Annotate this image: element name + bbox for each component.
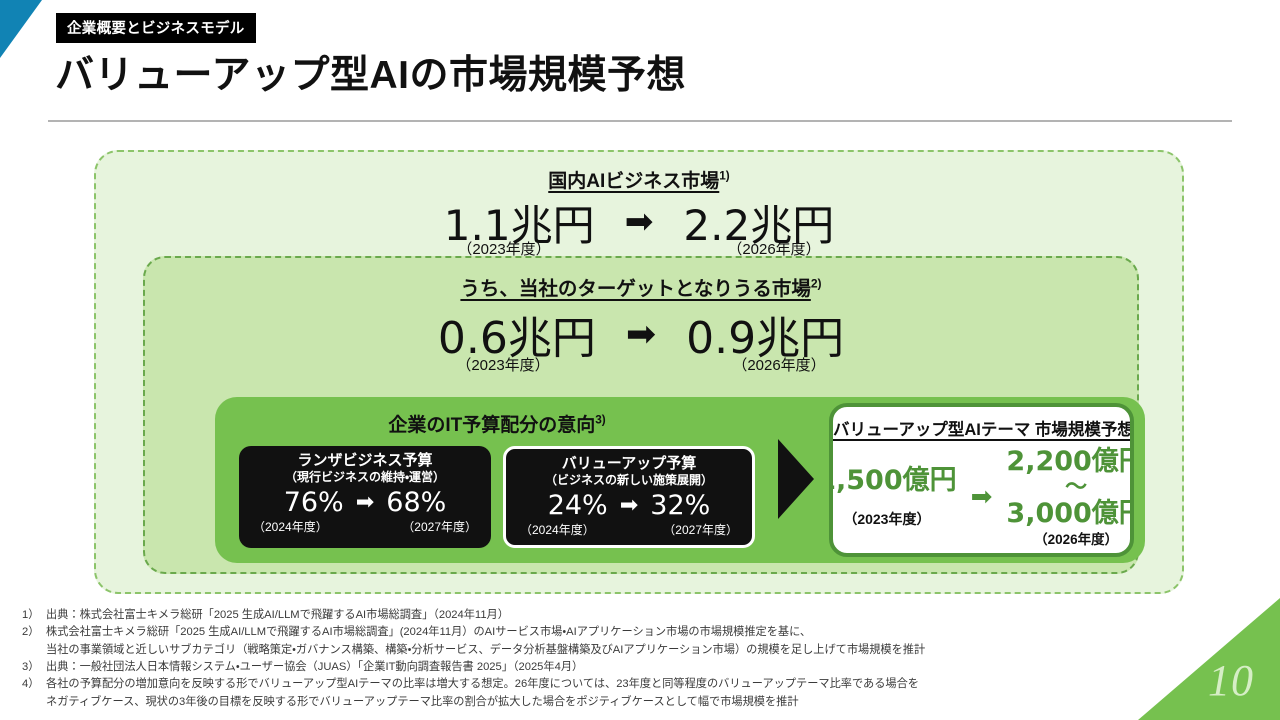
page-title: バリューアップ型AIの市場規模予想 [55, 44, 686, 100]
budget-box-values: 24% ➡ 32% [516, 490, 742, 521]
budget-box-subtitle: （現行ビジネスの維持・運営） [249, 470, 481, 484]
footnote-text-continued: 当社の事業領域と近しいサブカテゴリ（戦略策定・ガバナンス構築、構築・分析サービス… [22, 642, 1202, 659]
budget-from-value: 76% [284, 487, 344, 518]
slide-root: 10 企業概要とビジネスモデル バリューアップ型AIの市場規模予想 国内AIビジ… [0, 0, 1280, 720]
level3-heading-text: 企業のIT予算配分の意向 [388, 415, 595, 436]
forecast-from-group: 1,500億円 （2023年度） [829, 465, 957, 528]
level2-to-year: （2026年度） [674, 354, 884, 375]
forecast-card-heading-text: バリューアップ型AIテーマ 市場規模予想 [833, 421, 1134, 439]
level2-heading: うち、当社のターゲットとなりうる市場2) [145, 272, 1137, 301]
footnotes: 1） 出典：株式会社富士キメラ総研「2025 生成AI/LLMで飛躍するAI市場… [22, 607, 1202, 711]
arrow-right-icon: ➡ [971, 484, 993, 510]
budget-to-year: （2027年度） [402, 518, 477, 535]
budget-to-year: （2027年度） [663, 521, 738, 538]
footnote-number: 4） [22, 676, 46, 693]
forecast-from-value: 1,500億円 [829, 465, 957, 496]
footnote-item: 1） 出典：株式会社富士キメラ総研「2025 生成AI/LLMで飛躍するAI市場… [22, 607, 1202, 624]
budget-box-values: 76% ➡ 68% [249, 487, 481, 518]
header-divider [48, 120, 1232, 122]
budget-to-value: 68% [386, 487, 446, 518]
budget-box-subtitle: （ビジネスの新しい施策展開） [516, 473, 742, 487]
forecast-card: バリューアップ型AIテーマ 市場規模予想4) 1,500億円 （2023年度） … [829, 403, 1134, 557]
budget-from-year: （2024年度） [520, 521, 595, 538]
forecast-to-group: 2,200億円 〜 3,000億円 （2026年度） [1006, 446, 1134, 548]
forecast-card-body: 1,500億円 （2023年度） ➡ 2,200億円 〜 3,000億円 （20… [833, 446, 1130, 548]
arrow-right-icon: ➡ [356, 491, 375, 513]
footnote-item: 4） 各社の予算配分の増加意向を反映する形でバリューアップ型AIテーマの比率は増… [22, 676, 1202, 693]
level2-years: （2023年度） （2026年度） [145, 354, 1137, 375]
budget-from-value: 24% [548, 490, 608, 521]
arrow-right-icon: ➡ [620, 494, 639, 516]
page-number: 10 [1208, 655, 1254, 706]
forecast-range-separator: 〜 [1006, 477, 1134, 498]
forecast-card-heading: バリューアップ型AIテーマ 市場規模予想4) [833, 416, 1130, 440]
level3-footnote-mark: 3) [595, 414, 605, 427]
footnote-text: 株式会社富士キメラ総研「2025 生成AI/LLMで飛躍するAI市場総調査」(2… [46, 624, 811, 641]
footnote-number: 3） [22, 659, 46, 676]
market-panel-level3: 企業のIT予算配分の意向3) ランザビジネス予算 （現行ビジネスの維持・運営） … [215, 397, 1145, 563]
arrow-right-icon: ➡ [625, 205, 654, 239]
forecast-to-value-low: 3,000億円 [1006, 498, 1134, 529]
arrow-right-icon: ➡ [626, 316, 656, 352]
budget-box-row: ランザビジネス予算 （現行ビジネスの維持・運営） 76% ➡ 68% （2024… [227, 446, 767, 548]
footnote-item: 2） 株式会社富士キメラ総研「2025 生成AI/LLMで飛躍するAI市場総調査… [22, 624, 1202, 641]
budget-box-years: （2024年度） （2027年度） [516, 521, 742, 538]
level2-heading-text: うち、当社のターゲットとなりうる市場 [460, 278, 810, 300]
level1-footnote-mark: 1) [719, 170, 729, 183]
level1-heading-text: 国内AIビジネス市場 [548, 171, 719, 192]
it-budget-group: 企業のIT予算配分の意向3) ランザビジネス予算 （現行ビジネスの維持・運営） … [227, 405, 767, 555]
level2-footnote-mark: 2) [811, 277, 822, 291]
section-eyebrow-label: 企業概要とビジネスモデル [56, 13, 256, 43]
forecast-to-year: （2026年度） [1006, 528, 1134, 548]
market-panel-level1: 国内AIビジネス市場1) 1.1兆円 ➡ 2.2兆円 （2023年度） （202… [94, 150, 1184, 594]
level1-heading: 国内AIビジネス市場1) [96, 166, 1182, 193]
budget-box-title: ランザビジネス予算 [249, 452, 481, 469]
level2-from-year: （2023年度） [398, 354, 608, 375]
corner-accent-blue-icon [0, 0, 42, 58]
budget-box-title: バリューアップ予算 [516, 455, 742, 472]
footnote-number: 2） [22, 624, 46, 641]
footnote-text: 出典：株式会社富士キメラ総研「2025 生成AI/LLMで飛躍するAI市場総調査… [46, 607, 509, 624]
level3-heading: 企業のIT予算配分の意向3) [227, 410, 767, 437]
footnote-text: 出典：一般社団法人日本情報システム・ユーザー協会（JUAS）「企業IT動向調査報… [46, 659, 583, 676]
budget-box-years: （2024年度） （2027年度） [249, 518, 481, 535]
budget-to-value: 32% [650, 490, 710, 521]
footnote-text-continued: ネガティブケース、現状の3年後の目標を反映する形でバリューアップテーマ比率の割合… [22, 694, 1202, 711]
footnote-item: 3） 出典：一般社団法人日本情報システム・ユーザー協会（JUAS）「企業IT動向… [22, 659, 1202, 676]
footnote-number: 1） [22, 607, 46, 624]
market-panel-level2: うち、当社のターゲットとなりうる市場2) 0.6兆円 ➡ 0.9兆円 （2023… [143, 256, 1139, 574]
footnote-text: 各社の予算配分の増加意向を反映する形でバリューアップ型AIテーマの比率は増大する… [46, 676, 919, 693]
forecast-from-year: （2023年度） [829, 509, 957, 529]
forecast-to-value-high: 2,200億円 [1006, 446, 1134, 477]
budget-box-run-the-business: ランザビジネス予算 （現行ビジネスの維持・運営） 76% ➡ 68% （2024… [239, 446, 491, 548]
budget-from-year: （2024年度） [253, 518, 328, 535]
arrow-right-triangle-icon [778, 439, 814, 519]
budget-box-value-up: バリューアップ予算 （ビジネスの新しい施策展開） 24% ➡ 32% （2024… [503, 446, 755, 548]
